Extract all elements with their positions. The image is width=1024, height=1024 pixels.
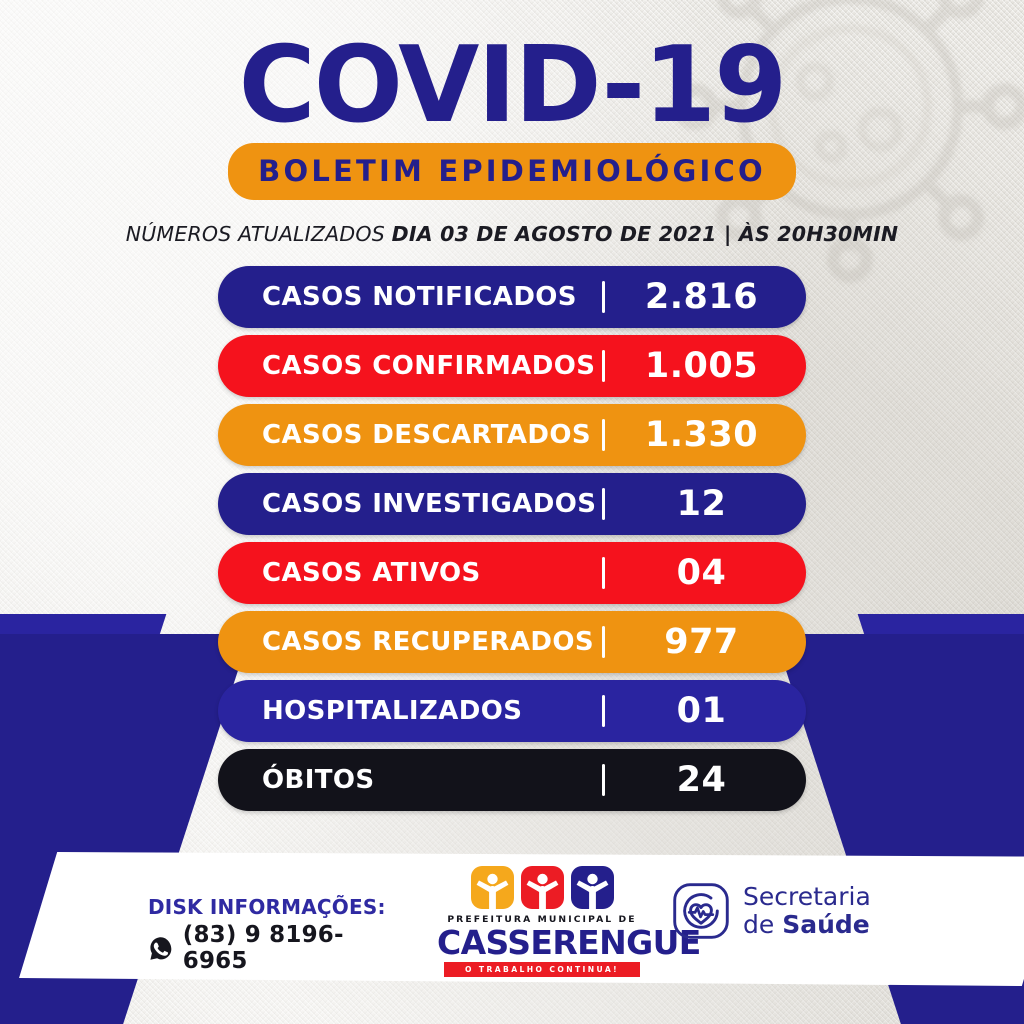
page-title: COVID-19: [0, 34, 1024, 137]
prefeitura-logo: PREFEITURA MUNICIPAL DE CASSERENGUE O TR…: [437, 866, 647, 977]
prefeitura-name: CASSERENGUE: [437, 926, 647, 959]
stat-value: 01: [605, 691, 806, 731]
disk-title: DISK INFORMAÇÕES:: [148, 895, 398, 919]
stat-value: 12: [605, 484, 806, 524]
stat-value: 2.816: [605, 277, 806, 317]
stat-label: ÓBITOS: [218, 765, 602, 795]
whatsapp-icon[interactable]: [148, 935, 174, 962]
stat-row: CASOS ATIVOS04: [218, 542, 806, 604]
subtitle-container: BOLETIM EPIDEMIOLÓGICO: [0, 143, 1024, 200]
stat-value: 24: [605, 760, 806, 800]
disk-informacoes: DISK INFORMAÇÕES: (83) 9 8196-6965: [148, 895, 398, 974]
heart-pulse-icon: [672, 882, 730, 940]
stat-label: CASOS INVESTIGADOS: [218, 489, 602, 519]
secretaria-saude-logo: Secretaria de Saúde: [672, 882, 871, 940]
secretaria-line2-strong: Saúde: [782, 910, 870, 939]
prefeitura-figures: [437, 866, 647, 909]
stat-value: 1.330: [605, 415, 806, 455]
stat-row: CASOS RECUPERADOS977: [218, 611, 806, 673]
stat-row: CASOS CONFIRMADOS1.005: [218, 335, 806, 397]
stat-label: HOSPITALIZADOS: [218, 696, 602, 726]
prefeitura-figure-2: [571, 866, 614, 909]
secretaria-line2-prefix: de: [743, 910, 782, 939]
stat-label: CASOS ATIVOS: [218, 558, 602, 588]
phone-row[interactable]: (83) 9 8196-6965: [148, 922, 398, 974]
update-prefix: NÚMEROS ATUALIZADOS: [126, 222, 392, 246]
secretaria-line1: Secretaria: [743, 883, 871, 911]
prefeitura-figure-0: [471, 866, 514, 909]
disk-phone-number[interactable]: (83) 9 8196-6965: [183, 922, 398, 974]
stat-row: ÓBITOS24: [218, 749, 806, 811]
stat-label: CASOS CONFIRMADOS: [218, 351, 602, 381]
header: COVID-19 BOLETIM EPIDEMIOLÓGICO NÚMEROS …: [0, 0, 1024, 246]
prefeitura-slogan: O TRABALHO CONTINUA!: [444, 962, 640, 977]
stat-label: CASOS RECUPERADOS: [218, 627, 602, 657]
person-icon: [571, 866, 614, 909]
poster-canvas: COVID-19 BOLETIM EPIDEMIOLÓGICO NÚMEROS …: [0, 0, 1024, 1024]
subtitle-badge: BOLETIM EPIDEMIOLÓGICO: [228, 143, 796, 200]
stat-label: CASOS DESCARTADOS: [218, 420, 602, 450]
secretaria-line2: de Saúde: [743, 911, 871, 939]
stat-value: 04: [605, 553, 806, 593]
stat-value: 1.005: [605, 346, 806, 386]
stat-value: 977: [605, 622, 806, 662]
footer-content: DISK INFORMAÇÕES: (83) 9 8196-6965 PREFE…: [0, 852, 1024, 986]
stat-row: HOSPITALIZADOS01: [218, 680, 806, 742]
update-timestamp: NÚMEROS ATUALIZADOS DIA 03 DE AGOSTO DE …: [0, 222, 1024, 246]
statistics-list: CASOS NOTIFICADOS2.816CASOS CONFIRMADOS1…: [218, 266, 806, 818]
stat-row: CASOS NOTIFICADOS2.816: [218, 266, 806, 328]
stat-row: CASOS INVESTIGADOS12: [218, 473, 806, 535]
stat-row: CASOS DESCARTADOS1.330: [218, 404, 806, 466]
prefeitura-figure-1: [521, 866, 564, 909]
person-icon: [471, 866, 514, 909]
secretaria-text: Secretaria de Saúde: [743, 883, 871, 939]
update-date: DIA 03 DE AGOSTO DE 2021 | ÀS 20H30MIN: [392, 222, 899, 246]
stat-label: CASOS NOTIFICADOS: [218, 282, 602, 312]
person-icon: [521, 866, 564, 909]
